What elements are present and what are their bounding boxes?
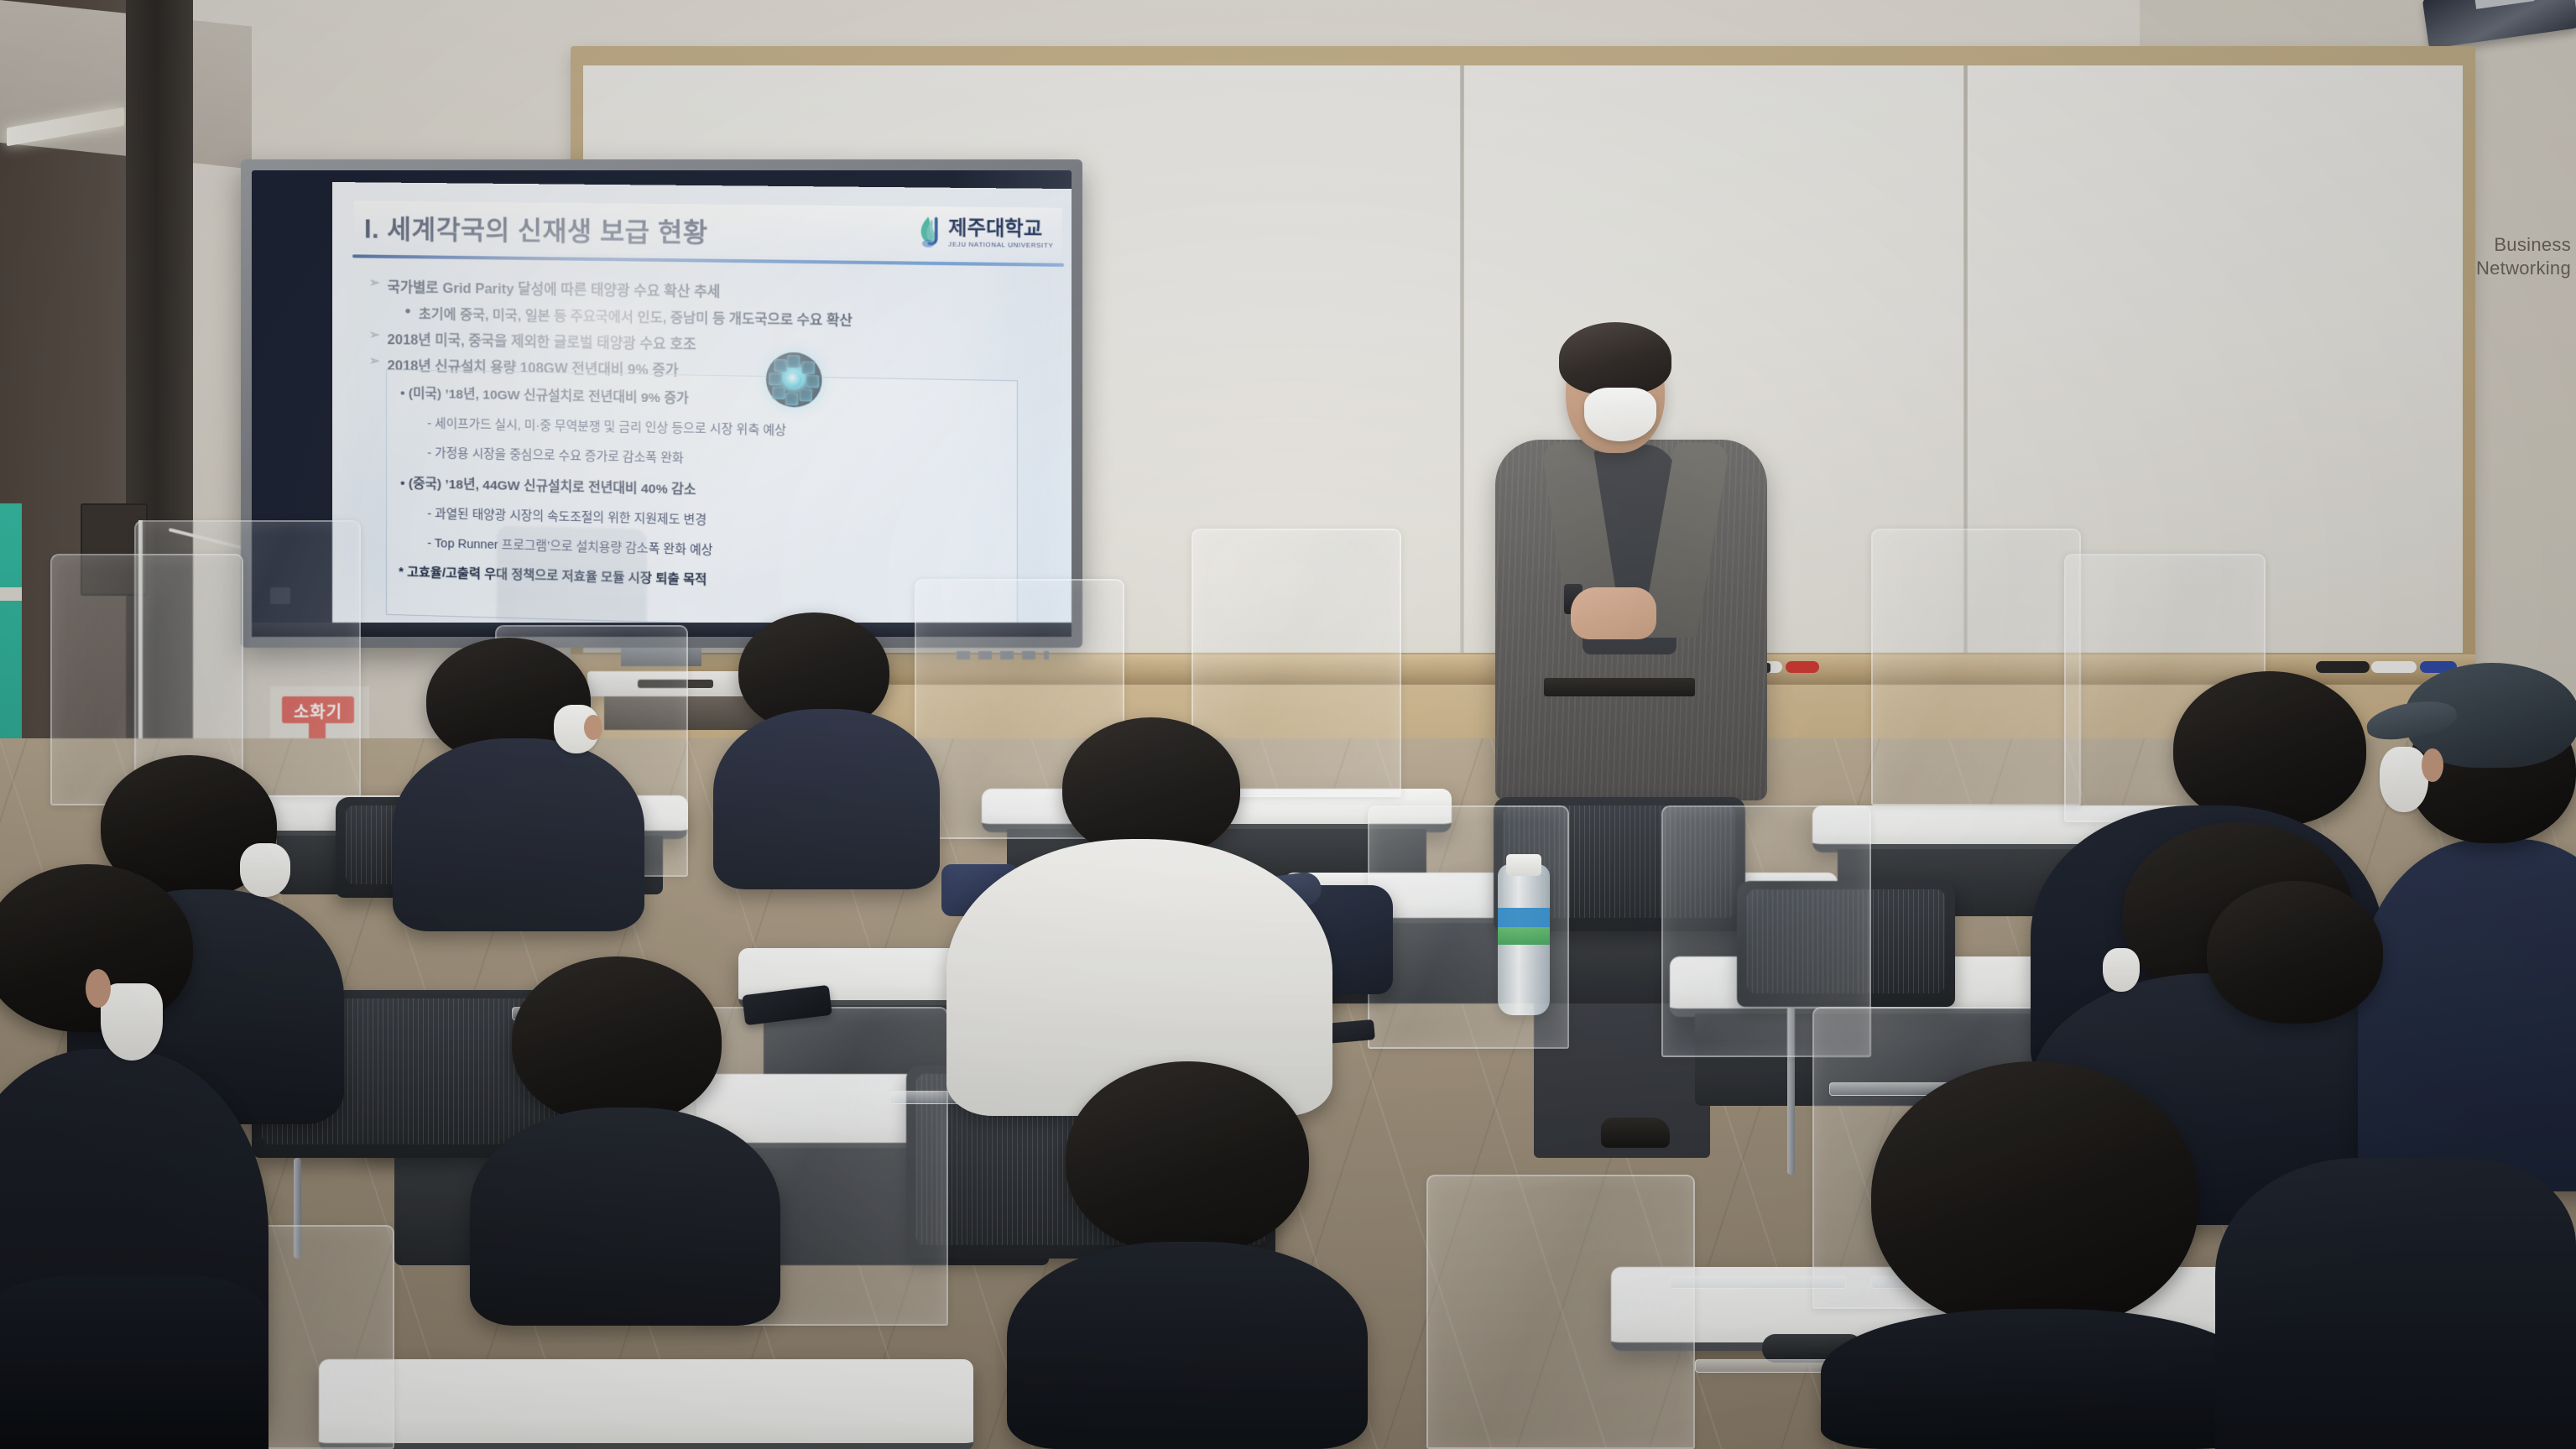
screen-glare-smudge — [497, 526, 646, 625]
desk — [319, 1359, 973, 1449]
whiteboard-joint-1 — [1460, 65, 1464, 653]
face-mask — [2380, 747, 2428, 812]
student-head — [2207, 881, 2383, 1024]
marker-black[interactable] — [2316, 661, 2370, 673]
bullet-text: 초기에 중국, 미국, 일본 등 주요국에서 인도, 중남미 등 개도국으로 수… — [419, 302, 853, 329]
presenter-belt — [1544, 678, 1695, 696]
green-strip-gap — [0, 587, 22, 601]
acrylic-divider — [1426, 1175, 1695, 1449]
face-mask — [2103, 948, 2140, 992]
face-mask — [240, 843, 290, 897]
presenter-hands — [1571, 587, 1656, 639]
foreground-shoulder — [0, 1275, 269, 1449]
arrow-bullet-icon: ➢ — [369, 276, 380, 292]
inset-line: • (미국) ’18년, 10GW 신규설치로 전년대비 9% 증가 — [400, 383, 1017, 413]
arrow-bullet-icon: ➢ — [369, 354, 380, 370]
acrylic-divider — [1871, 529, 2081, 805]
presenter-hair — [1559, 322, 1671, 394]
ear — [2422, 748, 2443, 782]
student-head — [512, 956, 722, 1124]
ear — [584, 715, 602, 740]
presenter-face-mask — [1584, 388, 1656, 441]
inset-line: - 세이프가드 실시, 미·중 무역분쟁 및 금리 인상 등으로 시장 위축 예… — [427, 414, 1017, 443]
solar-emblem-graphic — [766, 352, 822, 407]
student-head — [2173, 671, 2366, 826]
student-torso — [1821, 1309, 2257, 1449]
foreground-shoulder — [2215, 1158, 2576, 1449]
jeju-flame-icon — [916, 215, 943, 249]
dot-bullet-icon: ● — [404, 302, 411, 319]
lecture-hall-scene: Business Networking 소화기 I. 세계각국의 신재생 보급 … — [0, 0, 2576, 1449]
student-torso — [470, 1108, 780, 1326]
student-torso — [1007, 1242, 1368, 1449]
bullet-text: 국가별로 Grid Parity 달성에 따른 태양광 수요 확산 추세 — [388, 276, 721, 301]
student-head — [1066, 1061, 1309, 1254]
water-bottle-cap — [1506, 854, 1541, 876]
arrow-bullet-icon: ➢ — [369, 328, 380, 344]
inset-line: • (중국) ’18년, 44GW 신규설치로 전년대비 40% 감소 — [400, 473, 1017, 506]
marker-white-2[interactable] — [2371, 661, 2417, 673]
student-torso — [393, 738, 644, 931]
presenter-shoe — [1601, 1118, 1670, 1148]
divider-foot — [1670, 1275, 1846, 1289]
screen-reflection — [951, 170, 1072, 637]
student-head — [1062, 717, 1240, 858]
marker-red[interactable] — [1786, 661, 1819, 673]
slide-title: I. 세계각국의 신재생 보급 현황 — [354, 207, 708, 249]
student-head — [1871, 1061, 2198, 1330]
water-bottle-label — [1498, 908, 1550, 945]
bullet-text: 2018년 미국, 중국을 제외한 글로벌 태양광 수요 호조 — [388, 328, 696, 353]
student-torso — [713, 709, 940, 889]
projection-screen: I. 세계각국의 신재생 보급 현황 제주대학교 JEJU NATIONAL U… — [252, 170, 1072, 637]
student-fleece-jacket — [2358, 839, 2576, 1191]
ear — [86, 969, 111, 1008]
inset-line: - 가정용 시장을 중심으로 수요 증가로 감소폭 완화 — [427, 443, 1017, 473]
